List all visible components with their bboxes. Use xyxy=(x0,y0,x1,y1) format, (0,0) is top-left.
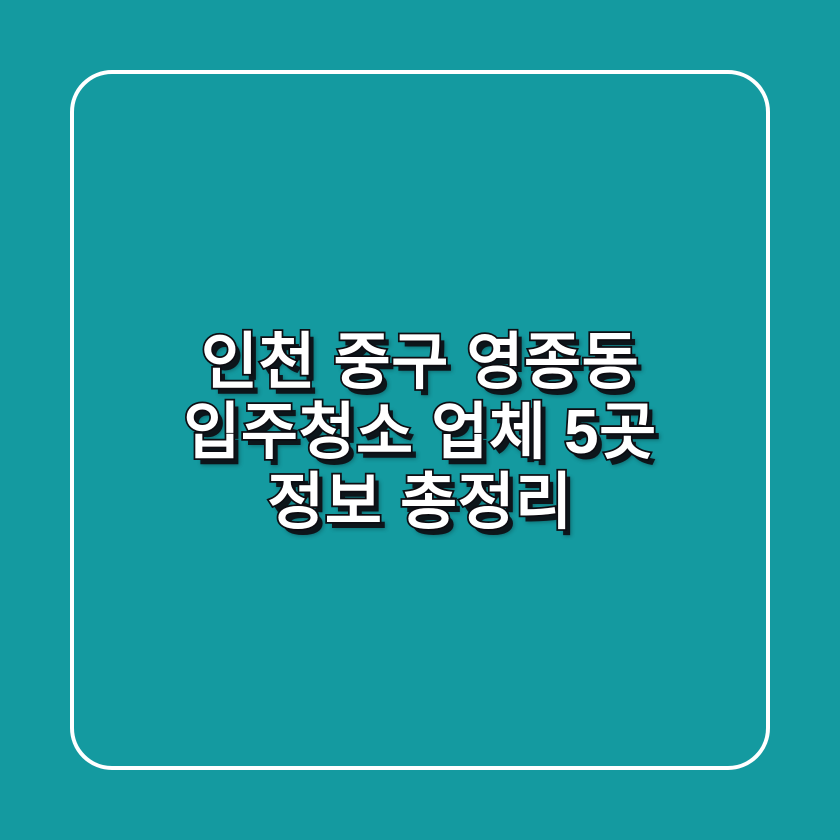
headline-line-2: 입주청소 업체 5곳 xyxy=(0,398,840,468)
headline-line-1: 인천 중구 영종동 xyxy=(0,328,840,398)
promo-card: 인천 중구 영종동 입주청소 업체 5곳 정보 총정리 xyxy=(0,0,840,840)
headline-line-3: 정보 총정리 xyxy=(0,468,840,538)
headline-block: 인천 중구 영종동 입주청소 업체 5곳 정보 총정리 xyxy=(0,0,840,840)
